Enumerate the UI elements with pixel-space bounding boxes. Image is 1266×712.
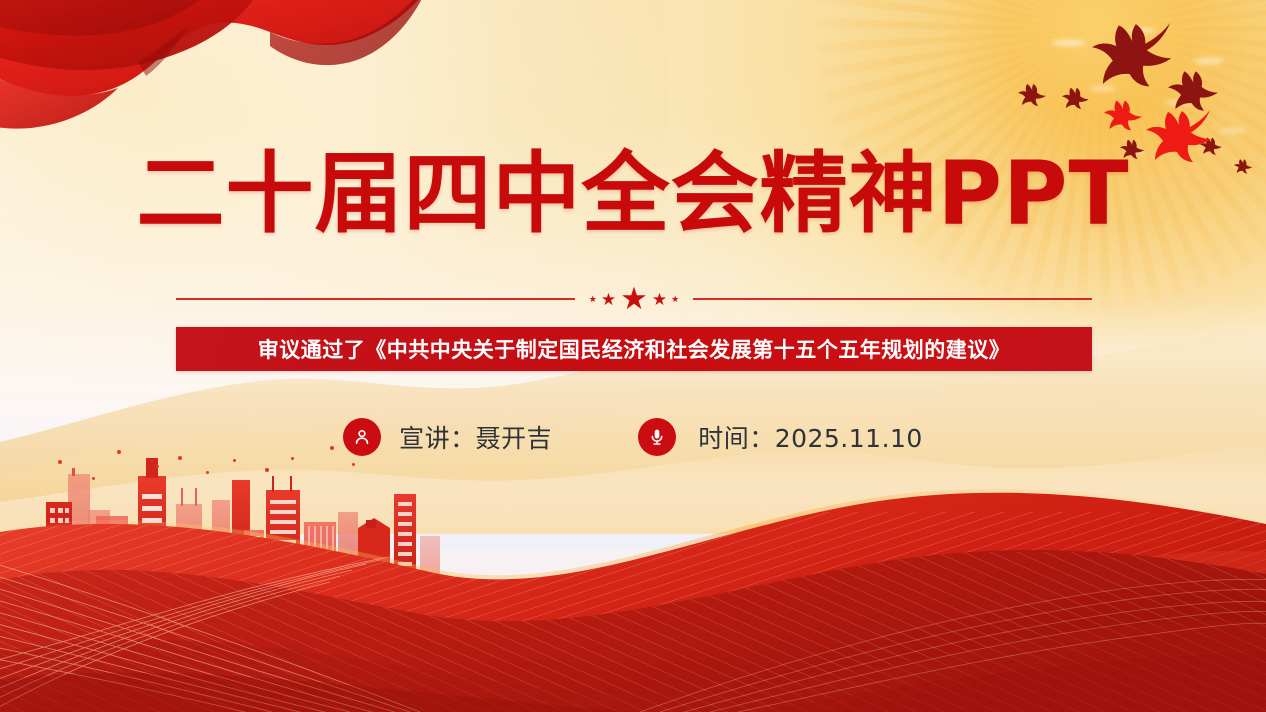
star-small-left-icon: ★ (589, 295, 597, 304)
time-group: 时间：2025.11.10 (638, 418, 923, 456)
slide-meta: 宣讲：聂开吉 时间：2025.11.10 (0, 418, 1266, 456)
divider-rule-right (693, 298, 1092, 300)
presentation-slide: 二十届四中全会精神PPT ★ ★ ★ ★ ★ 审议通过了《中共中央关于制定国民经… (0, 0, 1266, 712)
microphone-icon (638, 418, 676, 456)
subtitle-banner: 审议通过了《中共中央关于制定国民经济和社会发展第十五个五年规划的建议》 (176, 327, 1092, 371)
star-divider: ★ ★ ★ ★ ★ (176, 286, 1092, 312)
slide-content: 二十届四中全会精神PPT ★ ★ ★ ★ ★ 审议通过了《中共中央关于制定国民经… (0, 0, 1266, 712)
star-small-right-icon: ★ (671, 295, 679, 304)
time-text: 时间：2025.11.10 (698, 419, 923, 455)
divider-rule-left (176, 298, 575, 300)
speaker-text: 宣讲：聂开吉 (399, 419, 552, 455)
divider-stars: ★ ★ ★ ★ ★ (575, 284, 693, 314)
subtitle-banner-text: 审议通过了《中共中央关于制定国民经济和社会发展第十五个五年规划的建议》 (258, 334, 1011, 364)
person-icon (343, 418, 381, 456)
page-title: 二十届四中全会精神PPT (0, 150, 1266, 238)
star-mid-left-icon: ★ (601, 291, 616, 308)
speaker-group: 宣讲：聂开吉 (343, 418, 552, 456)
star-mid-right-icon: ★ (652, 291, 667, 308)
star-large-icon: ★ (620, 283, 648, 314)
